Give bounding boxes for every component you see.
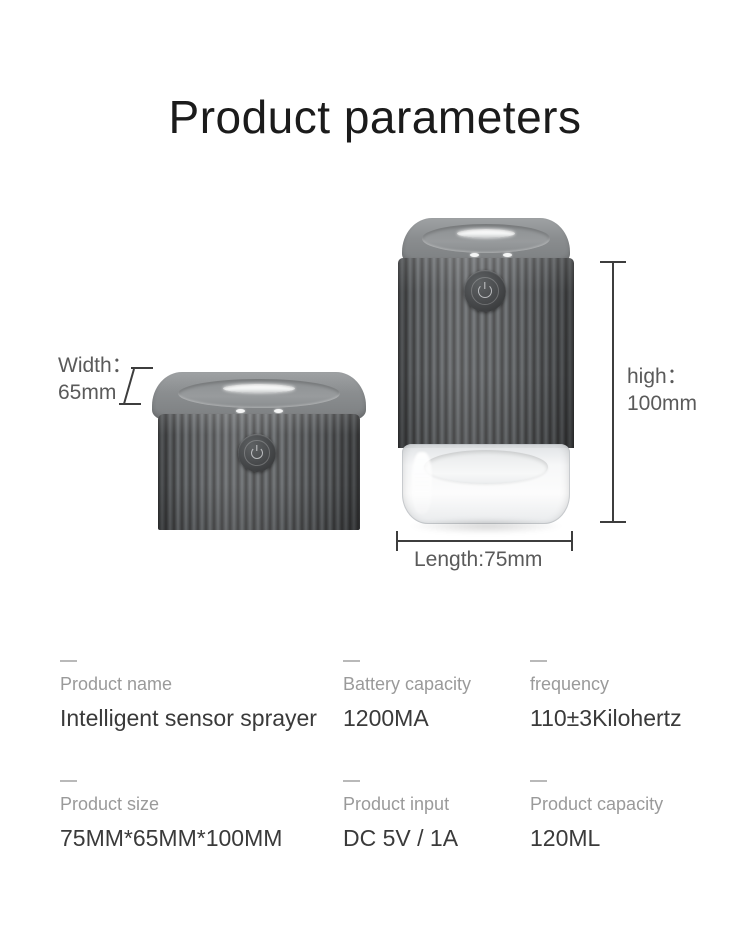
- spec-item-frequency: frequency 110±3Kilohertz: [530, 660, 682, 733]
- power-symbol-icon: [251, 447, 264, 460]
- power-button-ring: [244, 440, 270, 466]
- dimension-cap-high-bottom: [600, 521, 626, 523]
- spec-item-product-size: Product size 75MM*65MM*100MM: [60, 780, 282, 853]
- spec-value: 120ML: [530, 823, 663, 853]
- dimension-label-length: Length:75mm: [414, 546, 542, 573]
- specification-grid: Product name Intelligent sensor sprayer …: [0, 660, 750, 900]
- tank-highlight: [412, 452, 432, 514]
- spec-value: 110±3Kilohertz: [530, 703, 682, 733]
- dimension-line-length: [397, 540, 573, 542]
- spec-label: Product size: [60, 792, 282, 816]
- spec-dash: [343, 780, 360, 782]
- spec-value: Intelligent sensor sprayer: [60, 703, 317, 733]
- led-indicator-icon: [236, 409, 245, 413]
- dimension-cap-length-right: [571, 531, 573, 551]
- spec-dash: [60, 660, 77, 662]
- spec-dash: [343, 660, 360, 662]
- device-top-cap: [152, 372, 366, 420]
- spec-item-battery-capacity: Battery capacity 1200MA: [343, 660, 471, 733]
- spec-row: Product size 75MM*65MM*100MM Product inp…: [0, 780, 750, 900]
- dimension-line-high: [612, 262, 614, 522]
- spec-label: Product name: [60, 672, 317, 696]
- power-button-icon: [238, 434, 276, 472]
- led-indicator-icon: [470, 253, 479, 257]
- spec-dash: [530, 660, 547, 662]
- dimension-cap-length-left: [396, 531, 398, 551]
- spec-dash: [530, 780, 547, 782]
- device-ribbed-body: [158, 414, 360, 530]
- spec-item-product-capacity: Product capacity 120ML: [530, 780, 663, 853]
- power-symbol-icon: [478, 284, 492, 298]
- power-button-ring: [471, 277, 499, 305]
- dimension-label-high: high： 100mm: [627, 363, 697, 417]
- power-button-icon: [464, 270, 506, 312]
- spec-item-product-name: Product name Intelligent sensor sprayer: [60, 660, 317, 733]
- spec-value: 1200MA: [343, 703, 471, 733]
- dimension-label-width: Width： 65mm: [58, 352, 133, 406]
- product-parameters-page: Product parameters: [0, 0, 750, 948]
- spec-value: DC 5V / 1A: [343, 823, 458, 853]
- transparent-water-tank: [402, 444, 570, 524]
- sprayer-device-tall-view: [398, 218, 574, 524]
- spec-row: Product name Intelligent sensor sprayer …: [0, 660, 750, 780]
- page-title: Product parameters: [0, 92, 750, 143]
- spec-item-product-input: Product input DC 5V / 1A: [343, 780, 458, 853]
- spec-label: Product input: [343, 792, 458, 816]
- tank-inner-rim: [424, 450, 548, 484]
- spec-value: 75MM*65MM*100MM: [60, 823, 282, 853]
- led-indicator-icon: [503, 253, 512, 257]
- device-shadow: [408, 518, 564, 534]
- mist-nozzle-icon: [223, 384, 296, 394]
- dimension-cap-high-top: [600, 261, 626, 263]
- spec-dash: [60, 780, 77, 782]
- led-indicator-icon: [274, 409, 283, 413]
- spec-label: Battery capacity: [343, 672, 471, 696]
- spec-label: frequency: [530, 672, 682, 696]
- sprayer-device-wide-view: [152, 372, 366, 532]
- spec-label: Product capacity: [530, 792, 663, 816]
